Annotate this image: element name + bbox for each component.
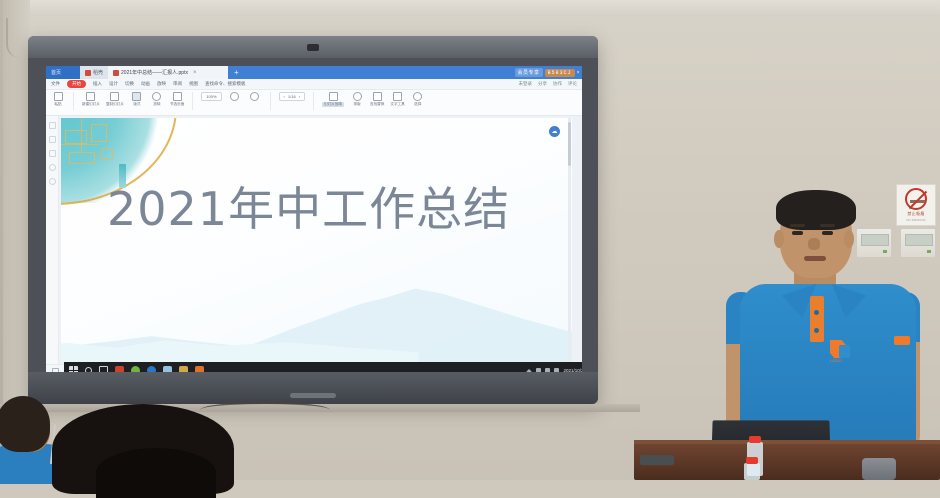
prev-page-icon[interactable]: ‹ <box>284 94 285 99</box>
ribbon-find-label: 查找替换 <box>370 102 384 107</box>
ribbon-copy-slide-label: 复制幻灯片 <box>106 102 124 107</box>
ribbon-split-label: 节选页面 <box>170 102 184 107</box>
bookmark-icon[interactable] <box>49 122 56 129</box>
comment-button[interactable]: 评论 <box>568 81 577 87</box>
page-indicator: 1/16 <box>288 94 296 99</box>
thermostat-led <box>927 250 931 253</box>
select-icon <box>413 92 422 101</box>
ribbon-split[interactable]: 节选页面 <box>170 92 184 107</box>
presenter-eye-right <box>822 231 833 235</box>
bottle-cap <box>749 436 761 443</box>
tab-docer[interactable]: 稻壳 <box>80 66 108 79</box>
tab-close-icon[interactable]: × <box>193 70 197 76</box>
menu-animation[interactable]: 动画 <box>141 81 150 87</box>
menu-slideshow[interactable]: 放映 <box>157 81 166 87</box>
play-icon <box>152 92 161 101</box>
copy-slide-icon <box>110 92 119 101</box>
ribbon-layout-label: 版式 <box>133 102 140 107</box>
tab-presentation-label: 2021年中总结——汇报人.pptx <box>121 69 188 76</box>
slideshow-icon <box>329 92 338 101</box>
menubar[interactable]: 文件 开始 插入 设计 切换 动画 放映 审阅 视图 查找命令、搜索模板 未登录… <box>46 79 582 90</box>
zoom-out-icon <box>250 92 259 101</box>
cable-box <box>640 455 674 465</box>
presenter-eye-left <box>792 231 803 235</box>
ribbon-new-slide-label: 新建幻灯片 <box>82 102 100 107</box>
slide-canvas[interactable]: 2021年中工作总结 ☁ <box>61 118 572 362</box>
ribbon-play[interactable]: 放映 <box>150 92 164 107</box>
attachment-icon[interactable] <box>49 164 56 171</box>
account-status[interactable]: 未登录 <box>519 81 533 87</box>
circuit-line-decoration <box>69 152 95 164</box>
ribbon-find[interactable]: 查找替换 <box>370 92 384 107</box>
command-search-field[interactable]: 查找命令、搜索模板 <box>205 81 246 87</box>
titlebar-right[interactable]: 会员专享 B583CJ × <box>515 67 580 78</box>
tab-home[interactable]: 首页 <box>46 66 80 79</box>
serial-badge: B583CJ <box>545 69 575 77</box>
menu-home[interactable]: 开始 <box>67 80 86 88</box>
zoom-dropdown[interactable]: 100% <box>201 92 221 101</box>
ribbon-select[interactable]: 选择 <box>411 92 425 107</box>
ribbon-copy-slide[interactable]: 复制幻灯片 <box>106 92 124 107</box>
logo-text: LOGO <box>830 358 842 363</box>
zoom-out-button[interactable] <box>248 92 262 101</box>
scrollbar-thumb[interactable] <box>568 122 571 166</box>
presenter-mouth <box>804 256 826 261</box>
ribbon-select-label: 选择 <box>414 102 421 107</box>
presenter-hair <box>776 190 856 230</box>
screen[interactable]: 首页 稻壳 2021年中总结——汇报人.pptx × + 会员专享 B583CJ… <box>46 66 582 378</box>
window-close-icon[interactable]: × <box>577 70 580 76</box>
zoom-in-button[interactable] <box>228 92 242 101</box>
share-button[interactable]: 分享 <box>538 81 547 87</box>
presenter-ear-left <box>774 230 784 248</box>
ribbon-layout[interactable]: 版式 <box>130 92 144 107</box>
paste-icon <box>54 92 63 101</box>
menu-design[interactable]: 设计 <box>109 81 118 87</box>
presenter-ear-right <box>844 230 854 248</box>
ribbon-divider <box>73 92 74 110</box>
shirt-logo: LOGO <box>830 340 854 362</box>
left-rail[interactable] <box>46 116 59 364</box>
new-tab-button[interactable]: + <box>228 68 245 77</box>
floor-cable <box>200 402 330 418</box>
ribbon-text-tool-label: 文字工具 <box>390 102 404 107</box>
menu-view[interactable]: 视图 <box>189 81 198 87</box>
ribbon-paste-label: 粘贴 <box>54 102 61 107</box>
signature-icon[interactable] <box>49 178 56 185</box>
presenter-nose <box>808 238 820 250</box>
tab-home-label: 首页 <box>51 69 61 76</box>
typeset-icon <box>353 92 362 101</box>
audience-head-center-front <box>96 448 216 498</box>
slide-scrollbar[interactable] <box>568 118 571 362</box>
ribbon-typeset-label: 排版 <box>353 102 360 107</box>
ribbon-slideshow-label: 幻灯片放映 <box>322 102 344 107</box>
collaborate-button[interactable]: 协作 <box>553 81 562 87</box>
document-area[interactable]: 2021年中工作总结 ☁ <box>46 116 582 364</box>
ribbon-play-label: 放映 <box>153 102 160 107</box>
browser-tabstrip[interactable]: 首页 稻壳 2021年中总结——汇报人.pptx × + 会员专享 B583CJ… <box>46 66 582 79</box>
menu-file[interactable]: 文件 <box>51 81 60 87</box>
wps-cloud-icon[interactable]: ☁ <box>549 126 560 137</box>
slide-title: 2021年中工作总结 <box>107 186 510 232</box>
ribbon-slideshow[interactable]: 幻灯片放映 <box>322 92 344 107</box>
interactive-flat-panel[interactable]: 首页 稻壳 2021年中总结——汇报人.pptx × + 会员专享 B583CJ… <box>28 36 598 404</box>
ribbon-text-tool[interactable]: 文字工具 <box>390 92 404 107</box>
bottle-cap <box>746 457 758 464</box>
presenter-placket <box>810 296 824 342</box>
audience-person-left-hair <box>0 396 50 452</box>
display-brand-bar <box>290 393 336 398</box>
ribbon-toolbar[interactable]: 粘贴 新建幻灯片 复制幻灯片 版式 放映 <box>46 90 582 116</box>
page-navigator[interactable]: ‹ 1/16 › <box>279 92 305 101</box>
circuit-line-decoration <box>61 144 99 145</box>
ceiling-line <box>0 0 940 16</box>
room-background: 禁止吸烟 NO SMOKING 首页 稻壳 <box>0 0 940 480</box>
microphone-base[interactable] <box>862 458 896 480</box>
menu-review[interactable]: 审阅 <box>173 81 182 87</box>
shirt-button <box>814 328 819 333</box>
presenter-eyebrow-right <box>820 224 835 227</box>
circuit-line-decoration <box>91 124 107 142</box>
ribbon-new-slide[interactable]: 新建幻灯片 <box>82 92 100 107</box>
ribbon-divider <box>270 92 271 110</box>
comment-icon[interactable] <box>49 150 56 157</box>
circuit-line-decoration <box>65 130 87 144</box>
doc-icon <box>85 70 91 76</box>
sleeve-badge <box>894 336 910 345</box>
presenter-eyebrow-left <box>790 224 805 227</box>
menubar-right-tools[interactable]: 未登录 分享 协作 评论 <box>519 81 578 87</box>
split-icon <box>173 92 182 101</box>
shirt-button <box>814 310 819 315</box>
thumbnail-icon[interactable] <box>49 136 56 143</box>
webcam-icon <box>307 44 319 51</box>
ribbon-paste[interactable]: 粘贴 <box>51 92 65 107</box>
tab-docer-label: 稻壳 <box>93 69 103 76</box>
display-bezel-bottom <box>28 372 598 404</box>
ribbon-divider <box>313 92 314 110</box>
ribbon-typeset[interactable]: 排版 <box>350 92 364 107</box>
layout-icon <box>132 92 141 101</box>
find-icon <box>373 92 382 101</box>
tab-presentation[interactable]: 2021年中总结——汇报人.pptx × <box>108 66 228 79</box>
circuit-line-decoration <box>101 148 113 160</box>
ribbon-divider <box>192 92 193 110</box>
zoom-in-icon <box>230 92 239 101</box>
new-slide-icon <box>86 92 95 101</box>
menu-insert[interactable]: 插入 <box>93 81 102 87</box>
display-bezel-top <box>28 36 598 58</box>
vip-badge[interactable]: 会员专享 <box>515 68 543 77</box>
ppt-icon <box>113 70 119 76</box>
circuit-line-decoration <box>81 118 82 152</box>
next-page-icon[interactable]: › <box>299 94 300 99</box>
water-bottle <box>744 463 760 480</box>
logo-mark-inner-icon <box>839 345 850 358</box>
text-tool-icon <box>393 92 402 101</box>
menu-transition[interactable]: 切换 <box>125 81 134 87</box>
